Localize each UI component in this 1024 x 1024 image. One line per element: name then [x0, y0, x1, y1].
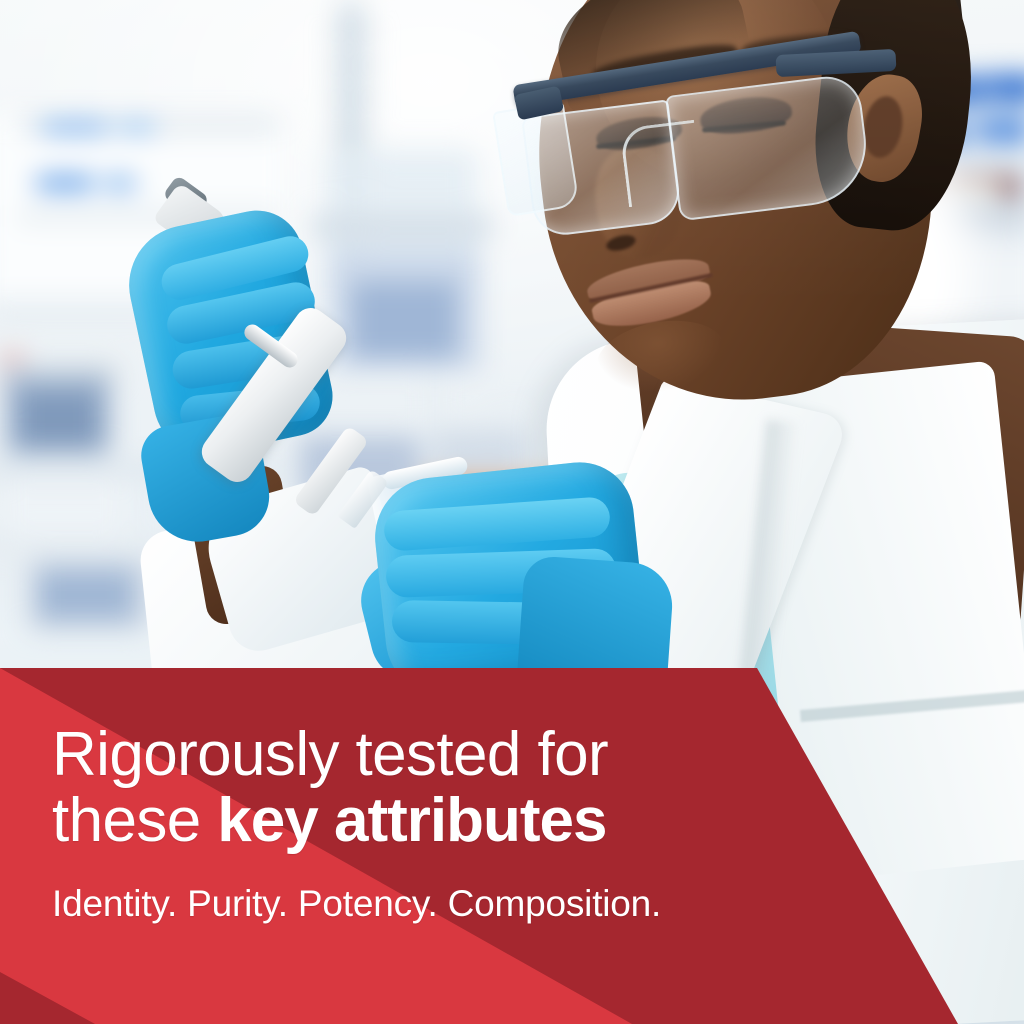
headline-line-2-bold: key attributes: [217, 786, 606, 855]
promo-graphic: Rigorously tested for these key attribut…: [0, 0, 1024, 1024]
headline-line-2-light: these: [52, 786, 217, 855]
headline-line-1: Rigorously tested for: [52, 720, 608, 789]
safety-glasses-bridge: [619, 120, 703, 208]
subheadline: Identity. Purity. Potency. Composition.: [52, 883, 952, 925]
